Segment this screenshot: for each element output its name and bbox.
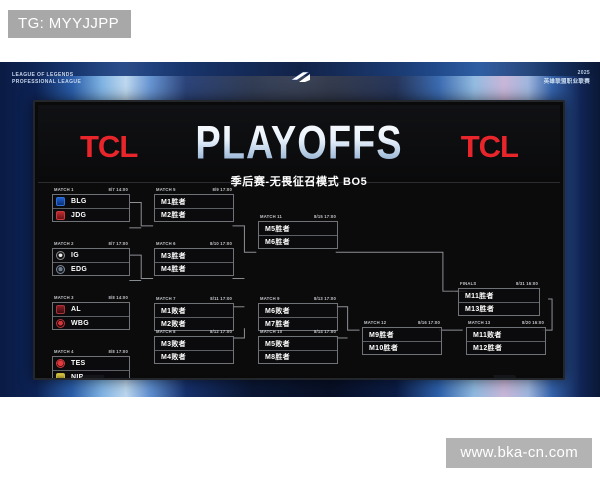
- tv-screen: TCL TCL PLAYOFFS 季后赛-无畏征召模式 BO5: [38, 105, 560, 375]
- slot-row[interactable]: M1败者: [155, 304, 233, 317]
- match-card-m8[interactable]: MATCH 8 8/12 17:00 M3败者 M4败者: [154, 336, 234, 364]
- team-logo-blg-icon: [56, 197, 65, 206]
- slot-row[interactable]: M13胜者: [459, 302, 539, 315]
- match-label: MATCH 6: [156, 241, 176, 246]
- slot-label: M10胜者: [369, 343, 398, 353]
- match-card-m9[interactable]: MATCH 9 8/13 17:00 M6败者 M7胜者: [258, 303, 338, 331]
- match-header: MATCH 10 8/14 17:00: [259, 329, 337, 334]
- match-card-m10[interactable]: MATCH 10 8/14 17:00 M5败者 M8胜者: [258, 336, 338, 364]
- slot-row[interactable]: M5败者: [259, 337, 337, 350]
- slot-label: M13胜者: [465, 304, 494, 314]
- slot-row[interactable]: M5胜者: [259, 222, 337, 235]
- site-watermark: www.bka-cn.com: [446, 438, 592, 468]
- match-label: MATCH 2: [54, 241, 74, 246]
- match-card-m5[interactable]: MATCH 5 8/9 17:00 M1胜者 M2胜者: [154, 194, 234, 222]
- slot-label: M3胜者: [161, 251, 186, 261]
- slot-row[interactable]: M8胜者: [259, 350, 337, 363]
- slot-row[interactable]: M6败者: [259, 304, 337, 317]
- match-header: FINALS 8/31 16:00: [459, 281, 539, 286]
- lpl-logo-icon: [288, 70, 312, 84]
- slot-label: M6胜者: [265, 237, 290, 247]
- team-logo-jdg-icon: [56, 211, 65, 220]
- match-label: MATCH 13: [468, 320, 490, 325]
- match-label: MATCH 9: [260, 296, 280, 301]
- bracket-area: MATCH 1 8/7 14:00 BLG JDG: [38, 184, 560, 375]
- slot-label: M11胜者: [465, 291, 494, 301]
- match-label: MATCH 10: [260, 329, 282, 334]
- slot-row[interactable]: M10胜者: [363, 341, 441, 354]
- slot-row[interactable]: M11败者: [467, 328, 545, 341]
- slot-label: M5败者: [265, 339, 290, 349]
- match-card-m3[interactable]: MATCH 3 8/8 14:00 AL WBG: [52, 302, 130, 330]
- team-logo-wbg-icon: [56, 319, 65, 328]
- slot-row[interactable]: M9胜者: [363, 328, 441, 341]
- match-card-m7[interactable]: MATCH 7 8/11 17:00 M1败者 M2败者: [154, 303, 234, 331]
- slot-label: M1胜者: [161, 197, 186, 207]
- screen-header: TCL TCL PLAYOFFS 季后赛-无畏征召模式 BO5: [38, 105, 560, 183]
- match-time: 8/8 14:00: [109, 295, 129, 300]
- match-header: MATCH 13 8/20 16:00: [467, 320, 545, 325]
- match-card-m2[interactable]: MATCH 2 8/7 17:00 IG EDG: [52, 248, 130, 276]
- match-time: 8/12 17:00: [210, 329, 232, 334]
- team-name: IG: [71, 252, 79, 259]
- tv-stand-right: [493, 375, 518, 380]
- match-card-finals[interactable]: FINALS 8/31 16:00 M11胜者 M13胜者: [458, 288, 540, 316]
- team-row[interactable]: BLG: [53, 195, 129, 208]
- match-header: MATCH 11 8/15 17:00: [259, 214, 337, 219]
- slot-row[interactable]: M3败者: [155, 337, 233, 350]
- lpl-line-2: PROFESSIONAL LEAGUE: [12, 79, 81, 86]
- television: TCL TCL PLAYOFFS 季后赛-无畏征召模式 BO5: [33, 100, 565, 380]
- team-logo-tes-icon: [56, 359, 65, 368]
- league-branding-right: 2025 英雄联盟职业联赛: [544, 70, 590, 85]
- slot-label: M4胜者: [161, 264, 186, 274]
- match-card-m13[interactable]: MATCH 13 8/20 16:00 M11败者 M12胜者: [466, 327, 546, 355]
- slot-label: M9胜者: [369, 330, 394, 340]
- match-header: MATCH 3 8/8 14:00: [53, 295, 129, 300]
- slot-row[interactable]: M2胜者: [155, 208, 233, 221]
- match-header: MATCH 5 8/9 17:00: [155, 187, 233, 192]
- match-time: 8/11 17:00: [210, 296, 232, 301]
- team-name: JDG: [71, 212, 86, 219]
- match-time: 8/10 17:00: [210, 241, 232, 246]
- match-card-m11[interactable]: MATCH 11 8/15 17:00 M5胜者 M6胜者: [258, 221, 338, 249]
- match-label: MATCH 3: [54, 295, 74, 300]
- page-title: PLAYOFFS: [195, 117, 402, 171]
- team-logo-edg-icon: [56, 265, 65, 274]
- slot-label: M8胜者: [265, 352, 290, 362]
- slot-label: M2败者: [161, 319, 186, 329]
- match-time: 8/16 17:00: [418, 320, 440, 325]
- lpl-wordmark: LEAGUE OF LEGENDS PROFESSIONAL LEAGUE: [12, 72, 81, 86]
- team-name: EDG: [71, 266, 87, 273]
- slot-label: M6败者: [265, 306, 290, 316]
- match-time: 8/9 17:00: [213, 187, 233, 192]
- match-time: 8/7 17:00: [109, 241, 129, 246]
- match-header: MATCH 6 8/10 17:00: [155, 241, 233, 246]
- league-year: 2025: [544, 70, 590, 76]
- match-time: 8/7 14:00: [109, 187, 129, 192]
- team-name: TES: [71, 360, 86, 367]
- match-label: MATCH 11: [260, 214, 282, 219]
- team-row[interactable]: IG: [53, 249, 129, 262]
- match-label: FINALS: [460, 281, 476, 286]
- slot-label: M3败者: [161, 339, 186, 349]
- team-row[interactable]: WBG: [53, 316, 129, 329]
- match-card-m12[interactable]: MATCH 12 8/16 17:00 M9胜者 M10胜者: [362, 327, 442, 355]
- slot-label: M4败者: [161, 352, 186, 362]
- match-card-m1[interactable]: MATCH 1 8/7 14:00 BLG JDG: [52, 194, 130, 222]
- screenshot-root: TG: MYYJJPP LEAGUE OF LEGENDS PROFESSION…: [0, 0, 600, 480]
- match-header: MATCH 2 8/7 17:00: [53, 241, 129, 246]
- match-time: 8/14 17:00: [314, 329, 336, 334]
- match-header: MATCH 4 8/8 17:00: [53, 349, 129, 354]
- slot-row[interactable]: M3胜者: [155, 249, 233, 262]
- match-header: MATCH 12 8/16 17:00: [363, 320, 441, 325]
- match-time: 8/13 17:00: [314, 296, 336, 301]
- match-time: 8/15 17:00: [314, 214, 336, 219]
- lpl-line-1: LEAGUE OF LEGENDS: [12, 72, 81, 79]
- team-logo-al-icon: [56, 305, 65, 314]
- match-card-m6[interactable]: MATCH 6 8/10 17:00 M3胜者 M4胜者: [154, 248, 234, 276]
- league-name-cn: 英雄联盟职业联赛: [544, 77, 590, 85]
- team-name: AL: [71, 306, 81, 313]
- team-row[interactable]: EDG: [53, 262, 129, 275]
- match-header: MATCH 7 8/11 17:00: [155, 296, 233, 301]
- slot-row[interactable]: M12胜者: [467, 341, 545, 354]
- match-header: MATCH 1 8/7 14:00: [53, 187, 129, 192]
- match-label: MATCH 1: [54, 187, 74, 192]
- tv-stand-left: [79, 375, 104, 380]
- team-row[interactable]: AL: [53, 303, 129, 316]
- team-name: BLG: [71, 198, 87, 205]
- team-row[interactable]: TES: [53, 357, 129, 370]
- telegram-tag: TG: MYYJJPP: [8, 10, 131, 38]
- title-block: PLAYOFFS 季后赛-无畏征召模式 BO5: [38, 117, 560, 189]
- slot-label: M7胜者: [265, 319, 290, 329]
- tv-photo: LEAGUE OF LEGENDS PROFESSIONAL LEAGUE 20…: [0, 62, 600, 397]
- slot-label: M11败者: [473, 330, 502, 340]
- slot-row[interactable]: M11胜者: [459, 289, 539, 302]
- slot-row[interactable]: M6胜者: [259, 235, 337, 248]
- match-header: MATCH 9 8/13 17:00: [259, 296, 337, 301]
- match-header: MATCH 8 8/12 17:00: [155, 329, 233, 334]
- match-label: MATCH 4: [54, 349, 74, 354]
- match-label: MATCH 5: [156, 187, 176, 192]
- match-time: 8/20 16:00: [522, 320, 544, 325]
- slot-label: M5胜者: [265, 224, 290, 234]
- match-label: MATCH 8: [156, 329, 176, 334]
- slot-row[interactable]: M4败者: [155, 350, 233, 363]
- match-label: MATCH 12: [364, 320, 386, 325]
- team-logo-nip-icon: [56, 373, 65, 381]
- slot-label: M12胜者: [473, 343, 502, 353]
- slot-row[interactable]: M1胜者: [155, 195, 233, 208]
- match-time: 8/8 17:00: [109, 349, 129, 354]
- match-label: MATCH 7: [156, 296, 176, 301]
- slot-label: M2胜者: [161, 210, 186, 220]
- team-name: WBG: [71, 320, 89, 327]
- match-time: 8/31 16:00: [516, 281, 538, 286]
- team-row[interactable]: JDG: [53, 208, 129, 221]
- slot-label: M1败者: [161, 306, 186, 316]
- slot-row[interactable]: M4胜者: [155, 262, 233, 275]
- team-logo-ig-icon: [56, 251, 65, 260]
